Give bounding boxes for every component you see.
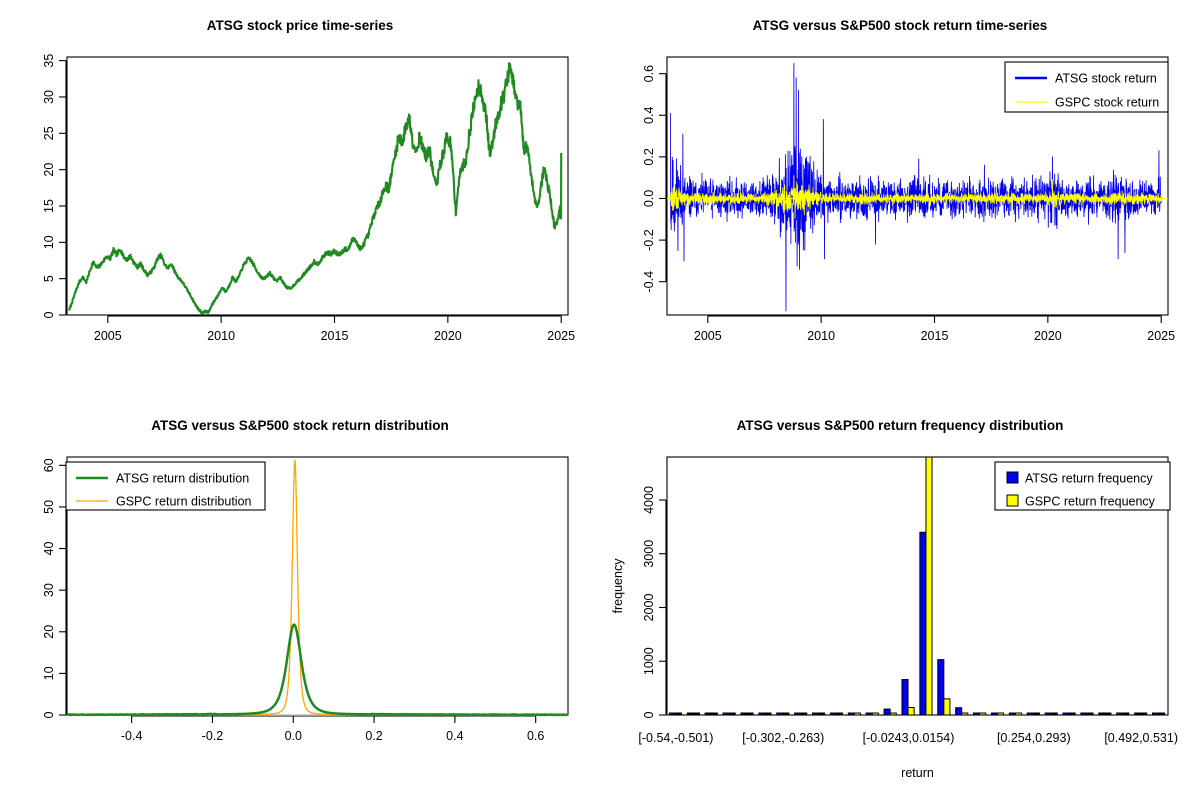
x-tick-label: 2015 [921,329,949,343]
y-tick-label: 0.6 [642,65,656,82]
bar-atsg-13 [902,680,908,715]
legend-label-1: GSPC return distribution [116,495,252,509]
bar-gspc-20 [1033,713,1039,715]
bar-atsg-20 [1027,713,1033,715]
y-tick-label: 30 [42,583,56,597]
bar-gspc-6 [783,713,789,715]
legend-swatch-0 [1007,472,1018,483]
y-tick-label: 0 [42,311,56,318]
series-atsg-price [69,63,561,313]
panel-title-return-frequency: ATSG versus S&P500 return frequency dist… [600,418,1200,433]
bar-gspc-17 [980,713,986,715]
panel-return-frequency: ATSG versus S&P500 return frequency dist… [600,400,1200,800]
bar-gspc-1 [693,713,699,715]
bar-gspc-13 [908,707,914,715]
bar-atsg-26 [1135,713,1141,715]
panel-return-distribution: ATSG versus S&P500 stock return distribu… [0,400,600,800]
bar-atsg-6 [777,713,783,715]
legend-label-1: GSPC return frequency [1025,495,1156,509]
y-tick-label: 0.0 [642,190,656,207]
bar-atsg-2 [705,713,711,715]
y-tick-label: 30 [42,90,56,104]
legend-label-1: GSPC stock return [1055,96,1159,110]
y-tick-label: 0.2 [642,148,656,165]
bar-atsg-25 [1117,713,1123,715]
bar-atsg-27 [1152,713,1158,715]
legend-label-0: ATSG return frequency [1025,472,1153,486]
y-tick-label: 4000 [642,486,656,514]
chart-return-timeseries: -0.4-0.20.00.20.40.620052010201520202025… [600,0,1200,400]
y-tick-label: 10 [42,235,56,249]
x-tick-label: 2020 [434,329,462,343]
panel-title-price-timeseries: ATSG stock price time-series [0,18,600,33]
y-tick-label: 5 [42,275,56,282]
x-axis: [-0.54,-0.501)[-0.302,-0.263)[-0.0243,0.… [638,731,1178,780]
bar-gspc-10 [854,713,860,715]
series-atsg-density [67,625,568,715]
bar-atsg-1 [687,713,693,715]
bar-gspc-4 [747,713,753,715]
bar-gspc-12 [890,713,896,715]
x-tick-label: -0.4 [121,729,143,743]
bar-atsg-4 [741,713,747,715]
chart-return-frequency: 01000200030004000frequency[-0.54,-0.501)… [600,400,1200,800]
bar-gspc-8 [819,713,825,715]
bar-gspc-21 [1051,713,1057,715]
x-axis: 20052010201520202025 [94,316,575,343]
bar-gspc-5 [765,713,771,715]
bar-atsg-17 [974,713,980,715]
figure-grid: ATSG stock price time-series 05101520253… [0,0,1200,800]
x-tick-label: 2015 [321,329,349,343]
x-axis: -0.4-0.20.00.20.40.6 [121,716,545,743]
y-axis-title: frequency [611,558,625,614]
bar-atsg-11 [866,713,872,715]
y-tick-label: 2000 [642,594,656,622]
y-tick-label: 0 [642,711,656,718]
bar-atsg-3 [723,713,729,715]
bar-gspc-26 [1141,713,1147,715]
x-bin-label: [-0.0243,0.0154) [863,731,955,745]
plot-frame [67,57,568,315]
legend-label-0: ATSG stock return [1055,72,1157,86]
y-tick-label: 20 [42,625,56,639]
bar-atsg-10 [848,713,854,715]
x-tick-label: 0.6 [527,729,544,743]
bar-gspc-11 [872,713,878,715]
y-tick-label: 3000 [642,540,656,568]
x-tick-label: 2005 [694,329,722,343]
x-bin-label: [0.492,0.531) [1104,731,1178,745]
bar-gspc-16 [962,713,968,715]
bar-gspc-3 [729,713,735,715]
x-bin-label: [-0.54,-0.501) [638,731,713,745]
x-tick-label: 2010 [807,329,835,343]
x-tick-label: 2005 [94,329,122,343]
bar-gspc-7 [801,713,807,715]
y-axis: 0102030405060 [42,458,66,718]
bar-atsg-19 [1009,713,1015,715]
bar-atsg-7 [795,713,801,715]
bar-atsg-23 [1081,713,1087,715]
y-tick-label: -0.4 [642,271,656,293]
panel-title-return-distribution: ATSG versus S&P500 stock return distribu… [0,418,600,433]
panel-return-timeseries: ATSG versus S&P500 stock return time-ser… [600,0,1200,400]
bar-gspc-23 [1087,713,1093,715]
y-tick-label: 20 [42,163,56,177]
x-bin-label: [-0.302,-0.263) [742,731,824,745]
bar-atsg-12 [884,709,890,715]
x-tick-label: 2020 [1034,329,1062,343]
panel-price-timeseries: ATSG stock price time-series 05101520253… [0,0,600,400]
x-tick-label: 0.4 [446,729,463,743]
y-axis: -0.4-0.20.00.20.40.6 [642,65,666,293]
y-tick-label: 0.4 [642,107,656,124]
y-axis: 05101520253035 [42,54,66,319]
x-bin-label: [0.254,0.293) [997,731,1071,745]
legend-swatch-1 [1007,495,1018,506]
x-tick-label: 0.2 [365,729,382,743]
y-tick-label: 50 [42,500,56,514]
y-tick-label: 40 [42,542,56,556]
bar-atsg-5 [759,713,765,715]
y-tick-label: 10 [42,666,56,680]
bar-atsg-15 [938,660,944,715]
y-tick-label: 25 [42,126,56,140]
legend: ATSG return distributionGSPC return dist… [66,462,265,510]
y-tick-label: 1000 [642,647,656,675]
panel-title-return-timeseries: ATSG versus S&P500 stock return time-ser… [600,18,1200,33]
legend-label-0: ATSG return distribution [116,472,249,486]
bar-gspc-24 [1105,713,1111,715]
y-tick-label: 0 [42,711,56,718]
bar-gspc-22 [1069,713,1075,715]
bar-gspc-2 [711,713,717,715]
x-axis: 20052010201520202025 [694,316,1175,343]
legend: ATSG stock returnGSPC stock return [1005,62,1168,112]
y-tick-label: 60 [42,458,56,472]
bar-gspc-27 [1159,713,1165,715]
bar-gspc-18 [998,713,1004,715]
y-tick-label: 15 [42,199,56,213]
bar-gspc-19 [1015,713,1021,715]
bar-atsg-9 [830,713,836,715]
x-tick-label: 2025 [1147,329,1175,343]
x-tick-label: 0.0 [285,729,302,743]
bar-gspc-0 [675,713,681,715]
bar-atsg-0 [669,713,675,715]
bar-gspc-15 [944,699,950,715]
bar-atsg-22 [1063,713,1069,715]
bar-atsg-14 [920,532,926,715]
bar-gspc-9 [836,713,842,715]
bar-atsg-8 [813,713,819,715]
bar-atsg-21 [1045,713,1051,715]
x-tick-label: 2025 [547,329,575,343]
y-tick-label: 35 [42,54,56,68]
chart-return-distribution: 0102030405060-0.4-0.20.00.20.40.6ATSG re… [0,400,600,800]
x-tick-label: 2010 [207,329,235,343]
bar-atsg-16 [956,708,962,715]
bar-gspc-25 [1123,713,1129,715]
legend: ATSG return frequencyGSPC return frequen… [995,462,1170,510]
y-tick-label: -0.2 [642,229,656,251]
y-axis: 01000200030004000frequency [611,486,666,718]
chart-price-timeseries: 0510152025303520052010201520202025 [0,0,600,400]
x-axis-title: return [901,766,934,780]
bar-atsg-18 [991,713,997,715]
x-tick-label: -0.2 [202,729,224,743]
bar-gspc-14 [926,457,932,715]
bar-atsg-24 [1099,713,1105,715]
